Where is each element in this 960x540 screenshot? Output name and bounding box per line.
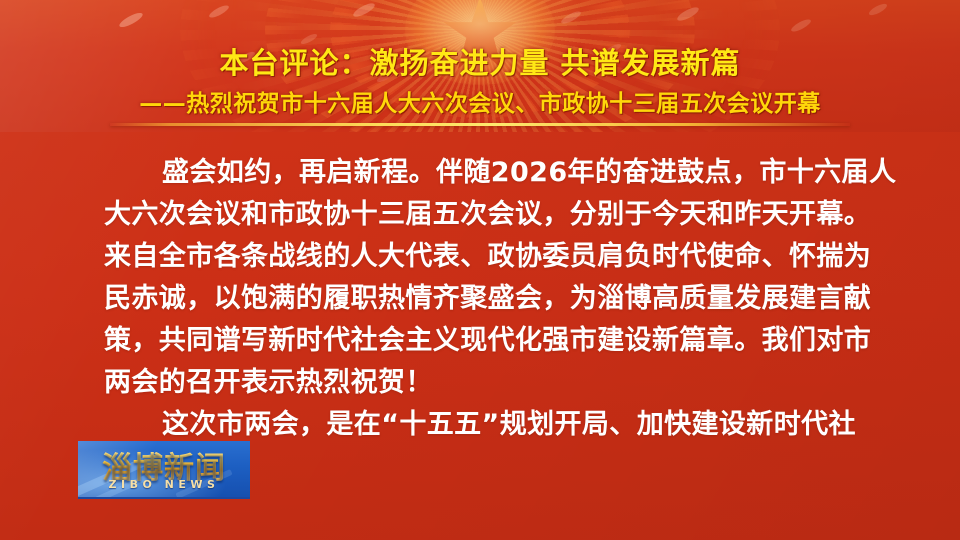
logo-name-en: ZIBO NEWS (78, 478, 250, 491)
page-subtitle: ——热烈祝贺市十六届人大六次会议、市政协十三届五次会议开幕 (0, 84, 960, 118)
article-line: 两会的召开表示热烈祝贺！ (104, 362, 864, 404)
article-line: 盛会如约，再启新程。伴随2026年的奋进鼓点，市十六届人 (104, 152, 864, 194)
page-title: 本台评论：激扬奋进力量 共谱发展新篇 (0, 40, 960, 82)
title-divider (110, 123, 850, 126)
broadcast-screen: 本台评论：激扬奋进力量 共谱发展新篇 ——热烈祝贺市十六届人大六次会议、市政协十… (0, 0, 960, 540)
article-line: 来自全市各条战线的人大代表、政协委员肩负时代使命、怀揣为 (104, 236, 864, 278)
article-line: 策，共同谱写新时代社会主义现代化强市建设新篇章。我们对市 (104, 320, 864, 362)
article-line: 这次市两会，是在“十五五”规划开局、加快建设新时代社 (104, 404, 864, 446)
article-body: 盛会如约，再启新程。伴随2026年的奋进鼓点，市十六届人 大六次会议和市政协十三… (104, 152, 864, 446)
channel-logo: 淄博新闻 ZIBO NEWS (78, 441, 250, 499)
title-banner: 本台评论：激扬奋进力量 共谱发展新篇 ——热烈祝贺市十六届人大六次会议、市政协十… (0, 0, 960, 132)
article-line: 大六次会议和市政协十三届五次会议，分别于今天和昨天开幕。 (104, 194, 864, 236)
article-line: 民赤诚，以饱满的履职热情齐聚盛会，为淄博高质量发展建言献 (104, 278, 864, 320)
